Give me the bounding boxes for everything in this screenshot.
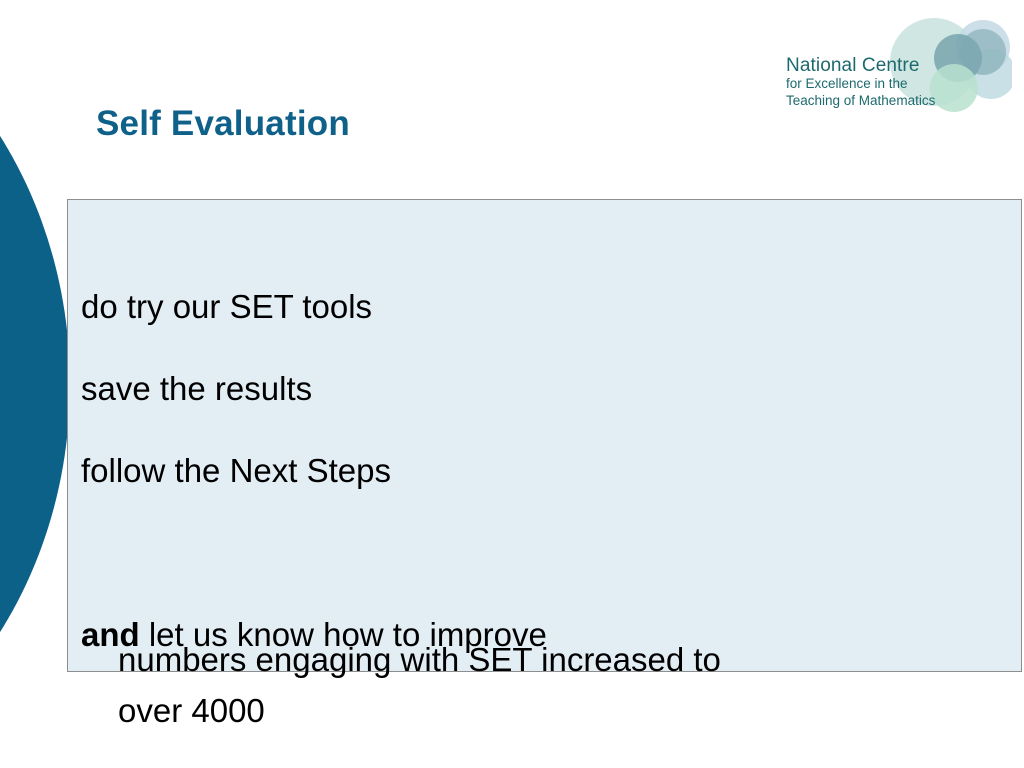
body-line-item-3: follow the Next Steps — [81, 454, 391, 487]
logo-line-secondary: for Excellence in the — [786, 76, 956, 92]
logo-line-primary: National Centre — [786, 56, 956, 76]
nctm-logo: National Centre for Excellence in the Te… — [780, 14, 1012, 130]
logo-text: National Centre for Excellence in the Te… — [786, 56, 956, 109]
content-box: do try our SET tools save the results fo… — [67, 199, 1022, 672]
overflow-text-block: numbers engaging with SET increased to o… — [118, 634, 998, 737]
slide-canvas: Self Evaluation National Centre for Exce… — [0, 0, 1024, 768]
body-line-item-1: do try our SET tools — [81, 290, 372, 323]
overflow-line-1: numbers engaging with SET increased to — [118, 634, 998, 685]
page-title: Self Evaluation — [96, 104, 350, 144]
overflow-line-2: over 4000 — [118, 685, 998, 736]
body-line-item-2: save the results — [81, 372, 312, 405]
left-accent-shape — [0, 0, 70, 768]
logo-line-tertiary: Teaching of Mathematics — [786, 93, 956, 109]
